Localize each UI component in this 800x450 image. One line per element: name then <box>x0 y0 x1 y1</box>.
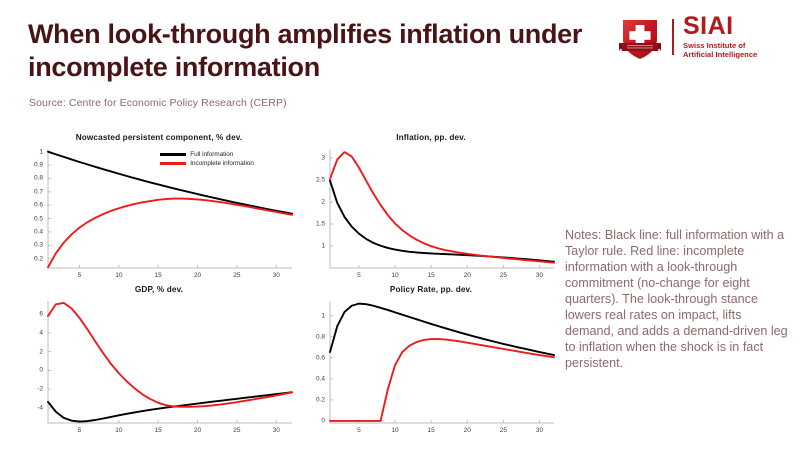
series-line <box>330 152 554 263</box>
y-axis-tick-label: -4 <box>18 404 43 411</box>
x-axis-tick-label: 15 <box>155 272 162 279</box>
y-axis-tick-label: 0.6 <box>300 354 325 361</box>
y-axis-tick-label: 0.3 <box>18 242 43 249</box>
x-axis-tick-label: 5 <box>357 272 361 279</box>
series-line <box>48 392 292 421</box>
legend-label: Incomplete information <box>190 160 254 167</box>
y-axis-tick-label: 1 <box>300 312 325 319</box>
legend-item: Incomplete information <box>160 159 254 168</box>
logo-subtitle: Swiss Institute of Artificial Intelligen… <box>683 41 757 60</box>
x-axis-tick-label: 10 <box>115 272 122 279</box>
y-axis-tick-label: 6 <box>18 311 43 318</box>
x-axis-tick-label: 15 <box>428 427 435 434</box>
legend-item: Full information <box>160 150 254 159</box>
logo-text-block: SIAI Swiss Institute of Artificial Intel… <box>683 15 757 59</box>
y-axis-tick-label: 2.5 <box>300 176 325 183</box>
series-line <box>48 199 292 268</box>
chart-policy-rate: Policy Rate, pp. dev.00.20.40.60.8151015… <box>300 285 562 440</box>
plot-area <box>18 285 300 440</box>
plot-area <box>300 133 562 285</box>
series-line <box>330 304 554 355</box>
y-axis-tick-label: 0.5 <box>18 215 43 222</box>
y-axis-tick-label: 0.9 <box>18 162 43 169</box>
y-axis-tick-label: 0.2 <box>300 396 325 403</box>
y-axis-tick-label: 3 <box>300 154 325 161</box>
page-title: When look-through amplifies inflation un… <box>28 18 608 85</box>
x-axis-tick-label: 15 <box>155 427 162 434</box>
x-axis-tick-label: 25 <box>233 427 240 434</box>
siai-logo: SIAI Swiss Institute of Artificial Intel… <box>614 11 786 63</box>
x-axis-tick-label: 5 <box>357 427 361 434</box>
x-axis-tick-label: 15 <box>428 272 435 279</box>
series-line <box>330 339 554 421</box>
y-axis-tick-label: 0.8 <box>18 175 43 182</box>
y-axis-tick-label: 4 <box>18 329 43 336</box>
logo-subtitle-line1: Swiss Institute of <box>683 41 757 50</box>
chart-gdp: GDP, % dev.-4-2024651015202530 <box>18 285 300 440</box>
x-axis-tick-label: 25 <box>233 272 240 279</box>
x-axis-tick-label: 10 <box>391 272 398 279</box>
legend-swatch-icon <box>160 153 186 155</box>
chart-inflation: Inflation, pp. dev.11.522.5351015202530 <box>300 133 562 285</box>
plot-area <box>18 133 300 285</box>
x-axis-tick-label: 25 <box>500 427 507 434</box>
y-axis-tick-label: 0.4 <box>300 375 325 382</box>
y-axis-tick-label: 0.4 <box>18 228 43 235</box>
chart-nowcasted-persistent-component: Nowcasted persistent component, % dev.0.… <box>18 133 300 285</box>
logo-divider <box>672 19 674 55</box>
x-axis-tick-label: 20 <box>464 427 471 434</box>
y-axis-tick-label: 2 <box>300 198 325 205</box>
chart-legend: Full informationIncomplete information <box>160 150 254 168</box>
logo-subtitle-line2: Artificial Intelligence <box>683 50 757 59</box>
x-axis-tick-label: 30 <box>536 427 543 434</box>
x-axis-tick-label: 5 <box>78 272 82 279</box>
y-axis-tick-label: -2 <box>18 386 43 393</box>
y-axis-tick-label: 0.8 <box>300 333 325 340</box>
x-axis-tick-label: 30 <box>273 272 280 279</box>
x-axis-tick-label: 30 <box>273 427 280 434</box>
x-axis-tick-label: 5 <box>78 427 82 434</box>
x-axis-tick-label: 20 <box>464 272 471 279</box>
plot-area <box>300 285 562 440</box>
y-axis-tick-label: 2 <box>18 348 43 355</box>
y-axis-tick-label: 0.6 <box>18 202 43 209</box>
y-axis-tick-label: 1.5 <box>300 220 325 227</box>
legend-swatch-icon <box>160 162 186 164</box>
logo-wordmark: SIAI <box>683 15 757 39</box>
swiss-shield-icon <box>614 12 666 62</box>
x-axis-tick-label: 30 <box>536 272 543 279</box>
y-axis-tick-label: 0.2 <box>18 255 43 262</box>
y-axis-tick-label: 1 <box>18 148 43 155</box>
x-axis-tick-label: 25 <box>500 272 507 279</box>
y-axis-tick-label: 0 <box>300 417 325 424</box>
series-line <box>48 303 292 407</box>
x-axis-tick-label: 20 <box>194 427 201 434</box>
legend-label: Full information <box>190 151 233 158</box>
x-axis-tick-label: 10 <box>115 427 122 434</box>
slide-header: When look-through amplifies inflation un… <box>0 0 800 120</box>
y-axis-tick-label: 0.7 <box>18 188 43 195</box>
y-axis-tick-label: 0 <box>18 367 43 374</box>
x-axis-tick-label: 20 <box>194 272 201 279</box>
x-axis-tick-label: 10 <box>391 427 398 434</box>
source-caption: Source: Centre for Economic Policy Resea… <box>29 97 287 109</box>
y-axis-tick-label: 1 <box>300 242 325 249</box>
notes-panel: Notes: Black line: full information with… <box>565 228 793 372</box>
